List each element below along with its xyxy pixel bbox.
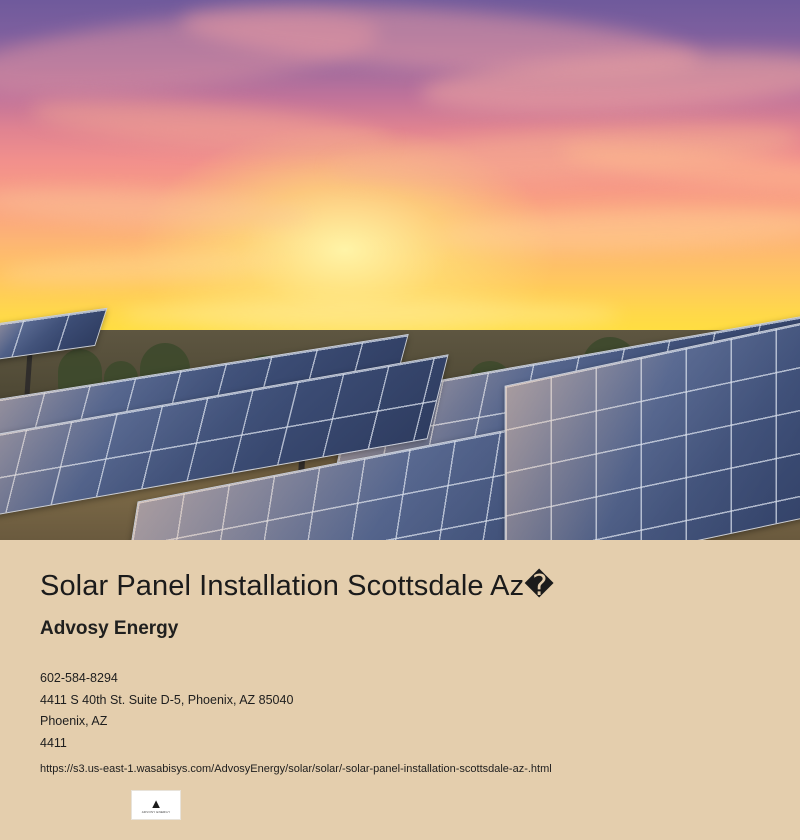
page-title: Solar Panel Installation Scottsdale Az� bbox=[40, 570, 660, 602]
company-logo: ▲ ADVOSY ENERGY bbox=[131, 790, 181, 820]
triangle-icon: ▲ bbox=[150, 797, 163, 810]
city-state: Phoenix, AZ bbox=[40, 711, 760, 733]
hero-image bbox=[0, 0, 800, 540]
logo-wordmark: ADVOSY ENERGY bbox=[142, 811, 171, 814]
street-address: 4411 S 40th St. Suite D-5, Phoenix, AZ 8… bbox=[40, 690, 760, 712]
source-url[interactable]: https://s3.us-east-1.wasabisys.com/Advos… bbox=[40, 760, 760, 779]
postal-line: 4411 bbox=[40, 733, 760, 755]
logo-mark: ▲ ADVOSY ENERGY bbox=[142, 797, 171, 814]
company-name: Advosy Energy bbox=[40, 618, 760, 640]
contact-details: 602-584-8294 4411 S 40th St. Suite D-5, … bbox=[40, 668, 760, 779]
listing-card: Solar Panel Installation Scottsdale Az� … bbox=[0, 0, 800, 840]
phone-number: 602-584-8294 bbox=[40, 668, 760, 690]
info-panel: Solar Panel Installation Scottsdale Az� … bbox=[0, 540, 800, 840]
